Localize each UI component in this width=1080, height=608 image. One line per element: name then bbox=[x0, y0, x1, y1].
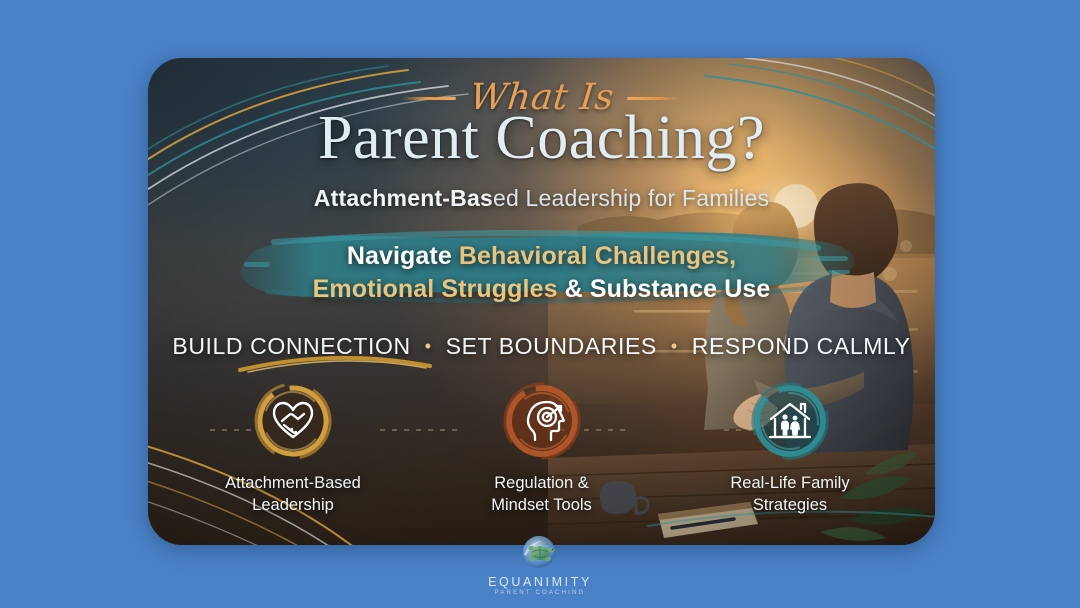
brand-logo[interactable]: EQUANIMITY PARENT COACHING bbox=[0, 534, 1080, 596]
house-family-icon bbox=[766, 397, 814, 445]
badge-ring-gold bbox=[252, 380, 334, 462]
subtitle: Attachment-Based Leadership for Families bbox=[148, 185, 935, 212]
pillar-label: Regulation & Mindset Tools bbox=[491, 472, 592, 516]
pillar-label: Attachment-Based Leadership bbox=[225, 472, 361, 516]
pillar-label: Real-Life Family Strategies bbox=[730, 472, 849, 516]
pillar-attachment-based-leadership[interactable]: Attachment-Based Leadership bbox=[208, 380, 378, 516]
banner-line1-gold: Behavioral Challenges, bbox=[459, 242, 736, 270]
subtitle-normal: ed Leadership for Families bbox=[493, 185, 769, 211]
tagline-item-1: SET BOUNDARIES bbox=[446, 333, 657, 359]
tagline-item-2: RESPOND CALMLY bbox=[692, 333, 911, 359]
tagline-item-0: BUILD CONNECTION bbox=[172, 333, 410, 359]
highlight-banner: Navigate Behavioral Challenges, Emotiona… bbox=[148, 226, 935, 304]
badge-ring-teal bbox=[749, 380, 831, 462]
tagline-separator-icon: • bbox=[418, 336, 439, 356]
poster-card: What Is Parent Coaching? Attachment-Base… bbox=[148, 58, 935, 545]
logo-subtitle: PARENT COACHING bbox=[495, 590, 586, 596]
badge-ring-copper bbox=[501, 380, 583, 462]
banner-text: Navigate Behavioral Challenges, Emotiona… bbox=[148, 240, 935, 306]
pillar-real-life-family-strategies[interactable]: Real-Life Family Strategies bbox=[705, 380, 875, 516]
turtle-logo-icon bbox=[518, 534, 562, 574]
head-target-icon bbox=[518, 397, 566, 445]
handshake-heart-icon bbox=[269, 397, 317, 445]
tagline-separator-icon: • bbox=[664, 336, 685, 356]
tagline-row: BUILD CONNECTION • SET BOUNDARIES • RESP… bbox=[148, 333, 935, 360]
subtitle-bold: Attachment-Bas bbox=[314, 185, 493, 211]
pillar-regulation-mindset-tools[interactable]: Regulation & Mindset Tools bbox=[457, 380, 627, 516]
banner-line2-gold: Emotional Struggles bbox=[313, 275, 558, 303]
poster-canvas: What Is Parent Coaching? Attachment-Base… bbox=[0, 0, 1080, 608]
page-title: Parent Coaching? bbox=[148, 106, 935, 171]
eyebrow-dash-right-icon bbox=[627, 97, 681, 100]
eyebrow-dash-left-icon bbox=[402, 97, 456, 100]
banner-line1-white: Navigate bbox=[347, 242, 459, 270]
pillars-row: Attachment-Based Leadership bbox=[208, 380, 875, 516]
logo-name: EQUANIMITY bbox=[488, 575, 592, 589]
banner-line2-white: & Substance Use bbox=[558, 275, 771, 303]
